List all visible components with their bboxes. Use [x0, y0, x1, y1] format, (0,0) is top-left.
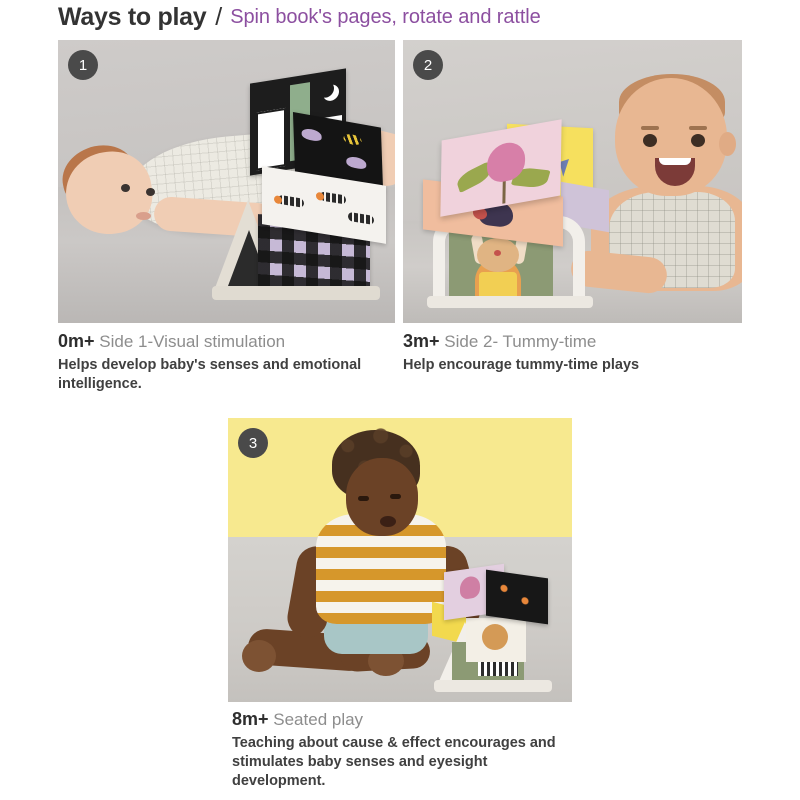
play-photo-2: 2	[403, 40, 742, 323]
caption-description-2: Help encourage tummy-time plays	[403, 356, 733, 375]
caption-heading-1: 0m+ Side 1-Visual stimulation	[58, 330, 398, 353]
play-caption-3: 8m+ Seated play Teaching about cause & e…	[232, 708, 572, 791]
caption-heading-2: 3m+ Side 2- Tummy-time	[403, 330, 743, 353]
baby-brow-left	[641, 126, 659, 130]
step-badge-1: 1	[68, 50, 98, 80]
toddler-mouth	[380, 516, 396, 527]
baby-eye-right-2	[691, 134, 705, 147]
caterpillar-3	[348, 212, 374, 225]
baby-eye-left-2	[643, 134, 657, 147]
toddler-eye-left	[358, 496, 369, 501]
spin-book-toy-2	[415, 120, 605, 310]
step-badge-3: 3	[238, 428, 268, 458]
step-badge-2: 2	[413, 50, 443, 80]
play-caption-1: 0m+ Side 1-Visual stimulation Helps deve…	[58, 330, 398, 394]
bee-shape	[343, 133, 361, 146]
toy-page-bear	[466, 618, 526, 662]
baby-brow-right	[689, 126, 707, 130]
age-label-1: 0m+	[58, 331, 95, 351]
toddler-foot-left	[242, 640, 276, 672]
bat-shape-2	[346, 155, 366, 170]
side-label-1: Side 1-Visual stimulation	[99, 332, 285, 351]
baby-ear-2	[719, 132, 736, 156]
age-label-2: 3m+	[403, 331, 440, 351]
caption-heading-3: 8m+ Seated play	[232, 708, 572, 731]
toy-base-bar	[212, 286, 380, 300]
toy-page-black-3	[486, 570, 548, 625]
spin-book-toy-3	[428, 560, 558, 690]
toy-base-bar-3	[434, 680, 552, 692]
play-photo-3: 3	[228, 418, 572, 702]
toddler-eye-right	[390, 494, 401, 499]
play-caption-2: 3m+ Side 2- Tummy-time Help encourage tu…	[403, 330, 743, 375]
play-card-3: 3 8m+ Seated play Teaching about cause &…	[0, 0, 344, 284]
toy-base-bar-2	[427, 296, 593, 308]
caption-description-1: Helps develop baby's senses and emotiona…	[58, 356, 388, 394]
caption-description-3: Teaching about cause & effect encourages…	[232, 734, 562, 791]
side-label-3: Seated play	[273, 710, 363, 729]
bunny-nose	[494, 250, 501, 256]
side-label-2: Side 2- Tummy-time	[444, 332, 596, 351]
bear-shape	[482, 624, 508, 650]
age-label-3: 8m+	[232, 709, 269, 729]
